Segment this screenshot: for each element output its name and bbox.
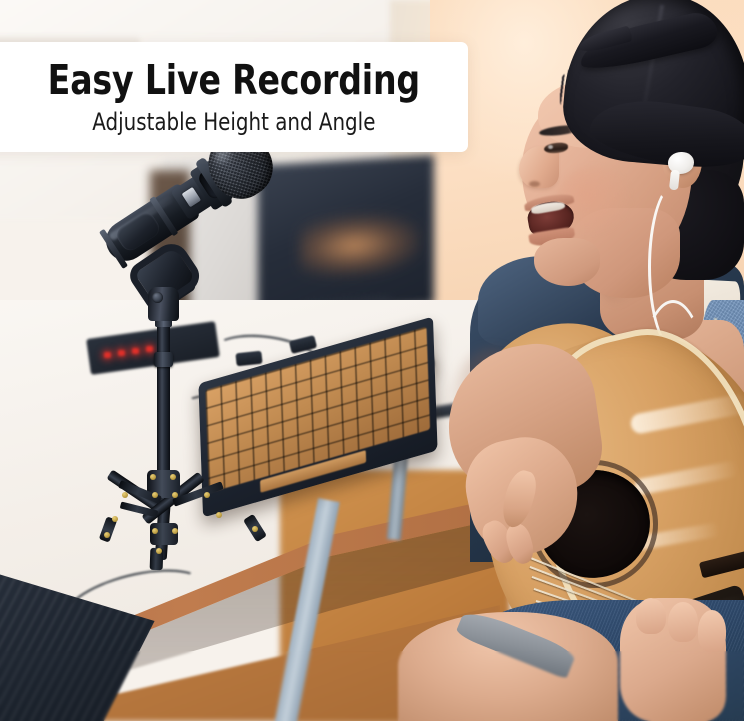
- led-indicator: [146, 346, 153, 352]
- person-nostril: [529, 181, 540, 187]
- mic-stand-rivet: [152, 492, 158, 498]
- page-subtitle: Adjustable Height and Angle: [92, 110, 375, 134]
- person-knuckle: [636, 598, 666, 634]
- led-indicator: [132, 348, 139, 354]
- mic-stand-height-collar[interactable]: [154, 352, 173, 367]
- mic-stand-rivet: [122, 492, 128, 498]
- mic-stand-rivet: [204, 492, 210, 498]
- mic-clip-tightening-knob[interactable]: [152, 292, 163, 303]
- monitor-screen-glow: [300, 211, 420, 279]
- mic-stand-rivet: [172, 492, 178, 498]
- mic-stand-rivet: [252, 526, 258, 532]
- person-eye-highlight: [548, 145, 553, 149]
- person-knuckle: [698, 610, 726, 652]
- mic-stand-rivet: [152, 528, 158, 534]
- mic-stand-rivet: [112, 516, 118, 522]
- mic-stand-rivet: [104, 532, 110, 538]
- led-indicator: [118, 350, 125, 356]
- mic-stand-rivet: [170, 474, 176, 480]
- person-knuckle: [668, 602, 698, 642]
- mic-stand-lower-hub: [150, 523, 178, 545]
- mic-stand-rivet: [156, 548, 162, 554]
- headline-card: Easy Live Recording Adjustable Height an…: [0, 42, 468, 152]
- mic-stand-rivet: [172, 528, 178, 534]
- mic-clip-angle-pivot[interactable]: [148, 287, 179, 321]
- product-banner: Easy Live Recording Adjustable Height an…: [0, 0, 744, 721]
- mic-stand-rivet: [216, 512, 222, 518]
- led-indicator: [104, 352, 111, 358]
- mic-stand-rivet: [150, 474, 156, 480]
- page-title: Easy Live Recording: [48, 60, 420, 101]
- person-chin: [534, 238, 600, 286]
- cable-plug: [235, 351, 262, 367]
